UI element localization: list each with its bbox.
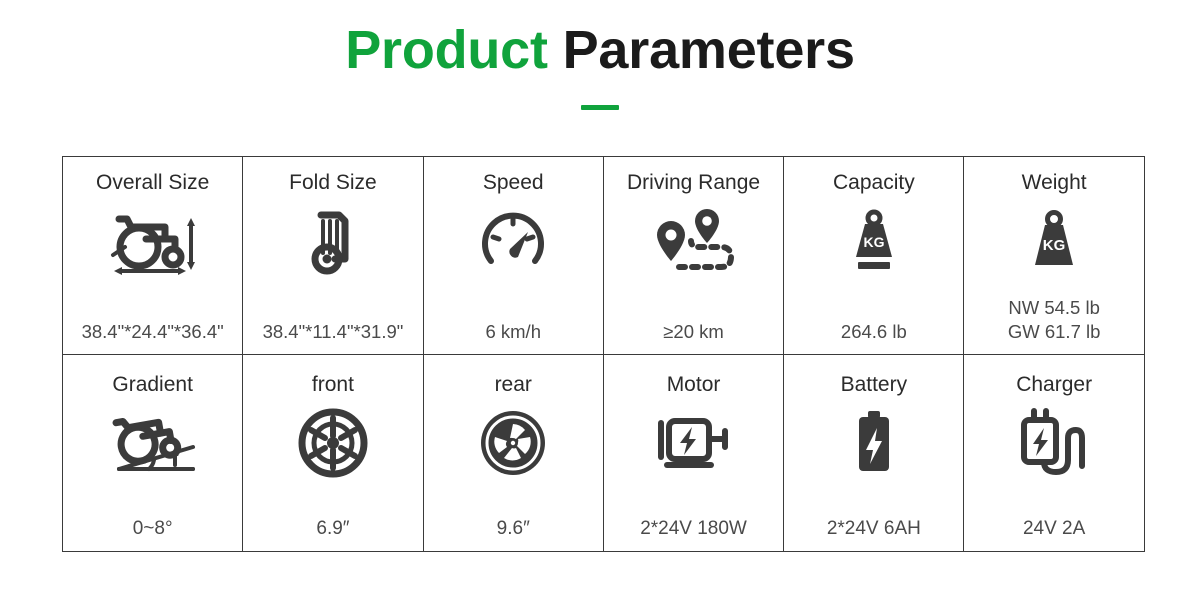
battery-icon bbox=[851, 407, 897, 479]
spec-cell-overall-size: Overall Size bbox=[63, 157, 243, 355]
charger-plug-icon bbox=[1014, 407, 1094, 479]
weight-kg-icon: KG bbox=[1018, 205, 1090, 277]
spec-cell-driving-range: Driving Range ≥20 km bbox=[603, 157, 783, 355]
spec-label: Weight bbox=[1022, 171, 1087, 195]
spec-cell-gradient: Gradient bbox=[63, 354, 243, 552]
spec-value: 6 km/h bbox=[485, 320, 541, 344]
spec-cell-battery: Battery 2*24V 6AH bbox=[784, 354, 964, 552]
page-title-rest: Parameters bbox=[548, 20, 855, 80]
spec-cell-motor: Motor 2*24V 180W bbox=[603, 354, 783, 552]
spec-cell-speed: Speed 6 km/h bbox=[423, 157, 603, 355]
spec-cell-weight: Weight KG NW 54.5 lb GW 61.7 lb bbox=[964, 157, 1144, 355]
spec-label: rear bbox=[495, 373, 532, 397]
title-divider bbox=[581, 105, 619, 110]
page-title: Product Parameters bbox=[0, 22, 1200, 79]
spec-label: Overall Size bbox=[96, 171, 209, 195]
spec-label: Speed bbox=[483, 171, 544, 195]
weight-kg-platform-icon: KG bbox=[838, 205, 910, 277]
table-row: Overall Size bbox=[63, 157, 1145, 355]
spec-label: Capacity bbox=[833, 171, 915, 195]
product-parameters-table: Overall Size bbox=[62, 156, 1145, 552]
spec-value: 24V 2A bbox=[1023, 517, 1085, 541]
spec-cell-rear-wheel: rear bbox=[423, 354, 603, 552]
spec-cell-charger: Charger 24V 2A bbox=[964, 354, 1144, 552]
spec-label: front bbox=[312, 373, 354, 397]
spec-value: 2*24V 180W bbox=[640, 517, 747, 541]
spec-value: NW 54.5 lb GW 61.7 lb bbox=[1008, 296, 1101, 343]
spec-label: Battery bbox=[841, 373, 908, 397]
spec-value: 6.9″ bbox=[316, 517, 349, 541]
speedometer-icon bbox=[477, 205, 549, 277]
spec-label: Driving Range bbox=[627, 171, 760, 195]
rear-wheel-icon bbox=[477, 407, 549, 479]
svg-text:KG: KG bbox=[1043, 237, 1066, 254]
spec-value-gw: GW 61.7 lb bbox=[1008, 320, 1101, 344]
spec-label: Fold Size bbox=[289, 171, 377, 195]
spec-label: Motor bbox=[667, 373, 721, 397]
spec-cell-fold-size: Fold Size 38.4"*11.4"*31.9" bbox=[243, 157, 423, 355]
spec-label: Charger bbox=[1016, 373, 1092, 397]
wheelchair-dimensions-icon bbox=[103, 205, 203, 277]
folded-wheelchair-icon bbox=[301, 205, 365, 277]
wheelchair-incline-icon bbox=[105, 407, 201, 479]
spec-value: 2*24V 6AH bbox=[827, 517, 921, 541]
spec-cell-front-wheel: front bbox=[243, 354, 423, 552]
spec-value: 0~8° bbox=[133, 517, 173, 541]
spec-value: ≥20 km bbox=[663, 320, 724, 344]
spec-value: 9.6″ bbox=[497, 517, 530, 541]
spec-label: Gradient bbox=[112, 373, 193, 397]
front-wheel-icon bbox=[298, 407, 368, 479]
page-title-accent: Product bbox=[345, 20, 548, 80]
spec-value: 264.6 lb bbox=[841, 320, 907, 344]
spec-value: 38.4"*11.4"*31.9" bbox=[263, 320, 404, 344]
spec-cell-capacity: Capacity KG 264.6 lb bbox=[784, 157, 964, 355]
spec-value: 38.4"*24.4"*36.4" bbox=[82, 320, 224, 344]
svg-text:KG: KG bbox=[863, 234, 884, 250]
table-row: Gradient bbox=[63, 354, 1145, 552]
map-route-pins-icon bbox=[645, 205, 743, 277]
spec-value-nw: NW 54.5 lb bbox=[1008, 296, 1101, 320]
page-header: Product Parameters bbox=[0, 0, 1200, 110]
motor-icon bbox=[651, 407, 737, 479]
